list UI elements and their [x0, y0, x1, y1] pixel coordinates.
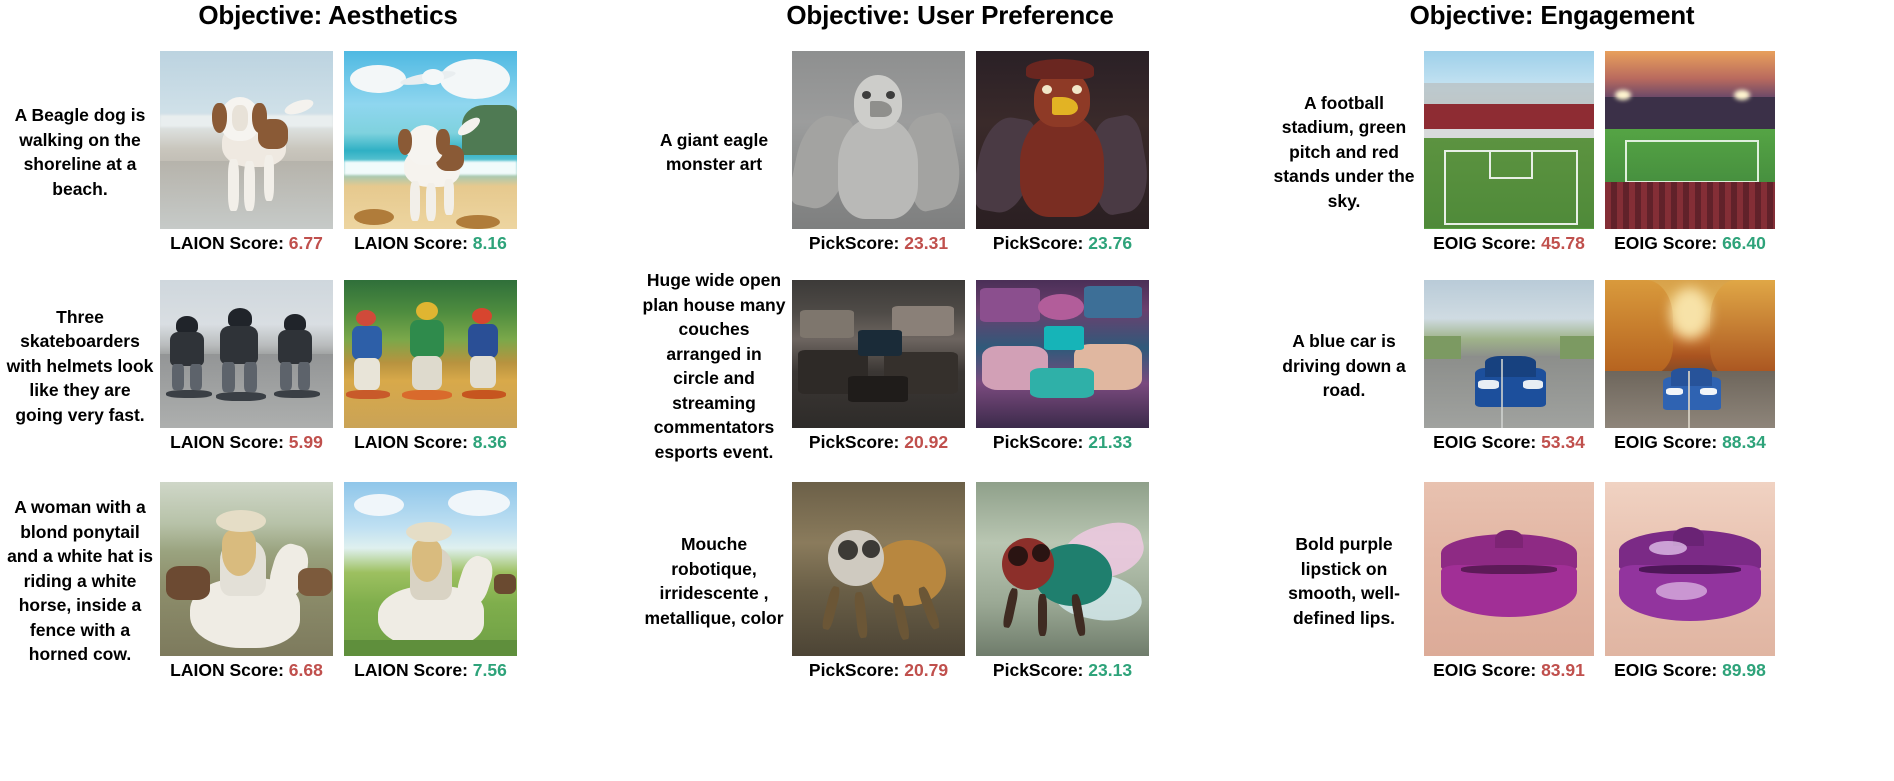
score-label-high: PickScore: 23.13 [993, 659, 1132, 681]
metric-label: EOIG Score: [1433, 660, 1536, 680]
row-aesthetics-2: Three skateboarders with helmets look li… [0, 268, 636, 464]
score-label-low: LAION Score: 5.99 [170, 431, 323, 453]
image-cell-low[interactable]: LAION Score: 6.68 [160, 482, 333, 681]
comparison-figure: Objective: Aesthetics Objective: User Pr… [0, 0, 1894, 781]
score-label-low: PickScore: 23.31 [809, 232, 948, 254]
generated-image-stadium-day[interactable] [1424, 51, 1594, 229]
image-cell-high[interactable]: LAION Score: 7.56 [344, 482, 517, 681]
image-cell-high[interactable]: LAION Score: 8.16 [344, 51, 517, 254]
column-aesthetics: A Beagle dog is walking on the shoreline… [0, 36, 636, 698]
metric-label: LAION Score: [354, 660, 468, 680]
metric-label: LAION Score: [354, 233, 468, 253]
score-label-high: EOIG Score: 66.40 [1614, 232, 1766, 254]
prompt-text: A giant eagle monster art [636, 128, 792, 177]
image-cell-high[interactable]: EOIG Score: 66.40 [1605, 51, 1775, 254]
prompt-text: A Beagle dog is walking on the shoreline… [0, 103, 160, 201]
image-pair: EOIG Score: 45.78 [1424, 51, 1775, 254]
image-cell-low[interactable]: EOIG Score: 83.91 [1424, 482, 1594, 681]
image-cell-high[interactable]: EOIG Score: 88.34 [1605, 280, 1775, 453]
image-cell-high[interactable]: EOIG Score: 89.98 [1605, 482, 1775, 681]
prompt-text: A football stadium, green pitch and red … [1264, 91, 1424, 214]
score-label-high: LAION Score: 8.16 [354, 232, 507, 254]
score-value: 20.79 [904, 660, 948, 680]
image-pair: PickScore: 23.31 [792, 51, 1149, 254]
score-label-low: EOIG Score: 83.91 [1433, 659, 1585, 681]
image-cell-low[interactable]: PickScore: 23.31 [792, 51, 965, 254]
metric-label: LAION Score: [170, 432, 284, 452]
score-label-high: LAION Score: 7.56 [354, 659, 507, 681]
score-value: 5.99 [289, 432, 323, 452]
image-pair: LAION Score: 5.99 [160, 280, 517, 453]
prompt-text: A blue car is driving down a road. [1264, 329, 1424, 403]
generated-image-stadium-dusk[interactable] [1605, 51, 1775, 229]
generated-image-house-photo[interactable] [792, 280, 965, 428]
score-value: 6.77 [289, 233, 323, 253]
image-pair: LAION Score: 6.68 [160, 482, 517, 681]
score-value: 88.34 [1722, 432, 1766, 452]
metric-label: PickScore: [809, 660, 899, 680]
metric-label: PickScore: [993, 660, 1083, 680]
score-label-low: PickScore: 20.79 [809, 659, 948, 681]
score-label-low: EOIG Score: 45.78 [1433, 232, 1585, 254]
image-cell-low[interactable]: LAION Score: 6.77 [160, 51, 333, 254]
score-label-low: LAION Score: 6.77 [170, 232, 323, 254]
score-label-high: LAION Score: 8.36 [354, 431, 507, 453]
score-value: 7.56 [473, 660, 507, 680]
image-cell-high[interactable]: LAION Score: 8.36 [344, 280, 517, 453]
prompt-text: Bold purple lipstick on smooth, well-def… [1264, 532, 1424, 630]
metric-label: LAION Score: [170, 660, 284, 680]
metric-label: EOIG Score: [1433, 233, 1536, 253]
metric-label: LAION Score: [354, 432, 468, 452]
generated-image-eagle-color[interactable] [976, 51, 1149, 229]
metric-label: EOIG Score: [1433, 432, 1536, 452]
image-pair: LAION Score: 6.77 [160, 51, 517, 254]
prompt-text: Huge wide open plan house many couches a… [636, 268, 792, 464]
score-label-low: EOIG Score: 53.34 [1433, 431, 1585, 453]
generated-image-skaters-painting[interactable] [344, 280, 517, 428]
score-label-low: PickScore: 20.92 [809, 431, 948, 453]
generated-image-robotic-fly-bronze[interactable] [792, 482, 965, 656]
generated-image-blue-car-day[interactable] [1424, 280, 1594, 428]
prompt-text: Mouche robotique, irridescente , metalli… [636, 532, 792, 630]
generated-image-house-render[interactable] [976, 280, 1149, 428]
score-label-high: PickScore: 23.76 [993, 232, 1132, 254]
generated-image-purple-lips-matte[interactable] [1424, 482, 1594, 656]
score-label-high: PickScore: 21.33 [993, 431, 1132, 453]
comparison-grid: A Beagle dog is walking on the shoreline… [0, 36, 1894, 698]
score-value: 20.92 [904, 432, 948, 452]
row-engagement-3: Bold purple lipstick on smooth, well-def… [1264, 464, 1894, 698]
generated-image-horse-painting[interactable] [344, 482, 517, 656]
score-value: 45.78 [1541, 233, 1585, 253]
score-value: 23.76 [1088, 233, 1132, 253]
column-header-aesthetics: Objective: Aesthetics [0, 0, 636, 30]
image-cell-low[interactable]: PickScore: 20.92 [792, 280, 965, 453]
column-engagement: A football stadium, green pitch and red … [1264, 36, 1894, 698]
score-value: 6.68 [289, 660, 323, 680]
generated-image-eagle-greyscale[interactable] [792, 51, 965, 229]
generated-image-blue-car-autumn[interactable] [1605, 280, 1775, 428]
column-header-engagement: Objective: Engagement [1264, 0, 1894, 30]
image-cell-high[interactable]: PickScore: 23.76 [976, 51, 1149, 254]
metric-label: PickScore: [993, 233, 1083, 253]
row-engagement-1: A football stadium, green pitch and red … [1264, 36, 1894, 268]
image-pair: EOIG Score: 53.34 [1424, 280, 1775, 453]
image-cell-low[interactable]: EOIG Score: 45.78 [1424, 51, 1594, 254]
image-cell-low[interactable]: PickScore: 20.79 [792, 482, 965, 681]
generated-image-skaters-photo[interactable] [160, 280, 333, 428]
score-value: 23.13 [1088, 660, 1132, 680]
score-value: 8.16 [473, 233, 507, 253]
image-pair: EOIG Score: 83.91 [1424, 482, 1775, 681]
image-pair: PickScore: 20.92 [792, 280, 1149, 453]
row-user-preference-3: Mouche robotique, irridescente , metalli… [636, 464, 1264, 698]
row-user-preference-1: A giant eagle monster art [636, 36, 1264, 268]
image-cell-high[interactable]: PickScore: 23.13 [976, 482, 1149, 681]
column-user-preference: A giant eagle monster art [636, 36, 1264, 698]
generated-image-beagle-photo[interactable] [160, 51, 333, 229]
score-label-high: EOIG Score: 89.98 [1614, 659, 1766, 681]
image-pair: PickScore: 20.79 [792, 482, 1149, 681]
image-cell-low[interactable]: LAION Score: 5.99 [160, 280, 333, 453]
score-value: 21.33 [1088, 432, 1132, 452]
row-user-preference-2: Huge wide open plan house many couches a… [636, 268, 1264, 464]
score-label-low: LAION Score: 6.68 [170, 659, 323, 681]
metric-label: PickScore: [809, 432, 899, 452]
score-value: 83.91 [1541, 660, 1585, 680]
generated-image-purple-lips-glossy[interactable] [1605, 482, 1775, 656]
metric-label: EOIG Score: [1614, 233, 1717, 253]
column-header-user-preference: Objective: User Preference [636, 0, 1264, 30]
metric-label: PickScore: [809, 233, 899, 253]
metric-label: PickScore: [993, 432, 1083, 452]
score-value: 66.40 [1722, 233, 1766, 253]
metric-label: EOIG Score: [1614, 660, 1717, 680]
row-aesthetics-3: A woman with a blond ponytail and a whit… [0, 464, 636, 698]
row-aesthetics-1: A Beagle dog is walking on the shoreline… [0, 36, 636, 268]
row-engagement-2: A blue car is driving down a road. [1264, 268, 1894, 464]
score-value: 89.98 [1722, 660, 1766, 680]
score-value: 8.36 [473, 432, 507, 452]
column-headers: Objective: Aesthetics Objective: User Pr… [0, 0, 1894, 36]
prompt-text: A woman with a blond ponytail and a whit… [0, 495, 160, 667]
generated-image-horse-photo[interactable] [160, 482, 333, 656]
metric-label: LAION Score: [170, 233, 284, 253]
generated-image-beagle-illustration[interactable] [344, 51, 517, 229]
metric-label: EOIG Score: [1614, 432, 1717, 452]
prompt-text: Three skateboarders with helmets look li… [0, 305, 160, 428]
score-value: 53.34 [1541, 432, 1585, 452]
score-label-high: EOIG Score: 88.34 [1614, 431, 1766, 453]
image-cell-high[interactable]: PickScore: 21.33 [976, 280, 1149, 453]
image-cell-low[interactable]: EOIG Score: 53.34 [1424, 280, 1594, 453]
score-value: 23.31 [904, 233, 948, 253]
generated-image-robotic-fly-iridescent[interactable] [976, 482, 1149, 656]
